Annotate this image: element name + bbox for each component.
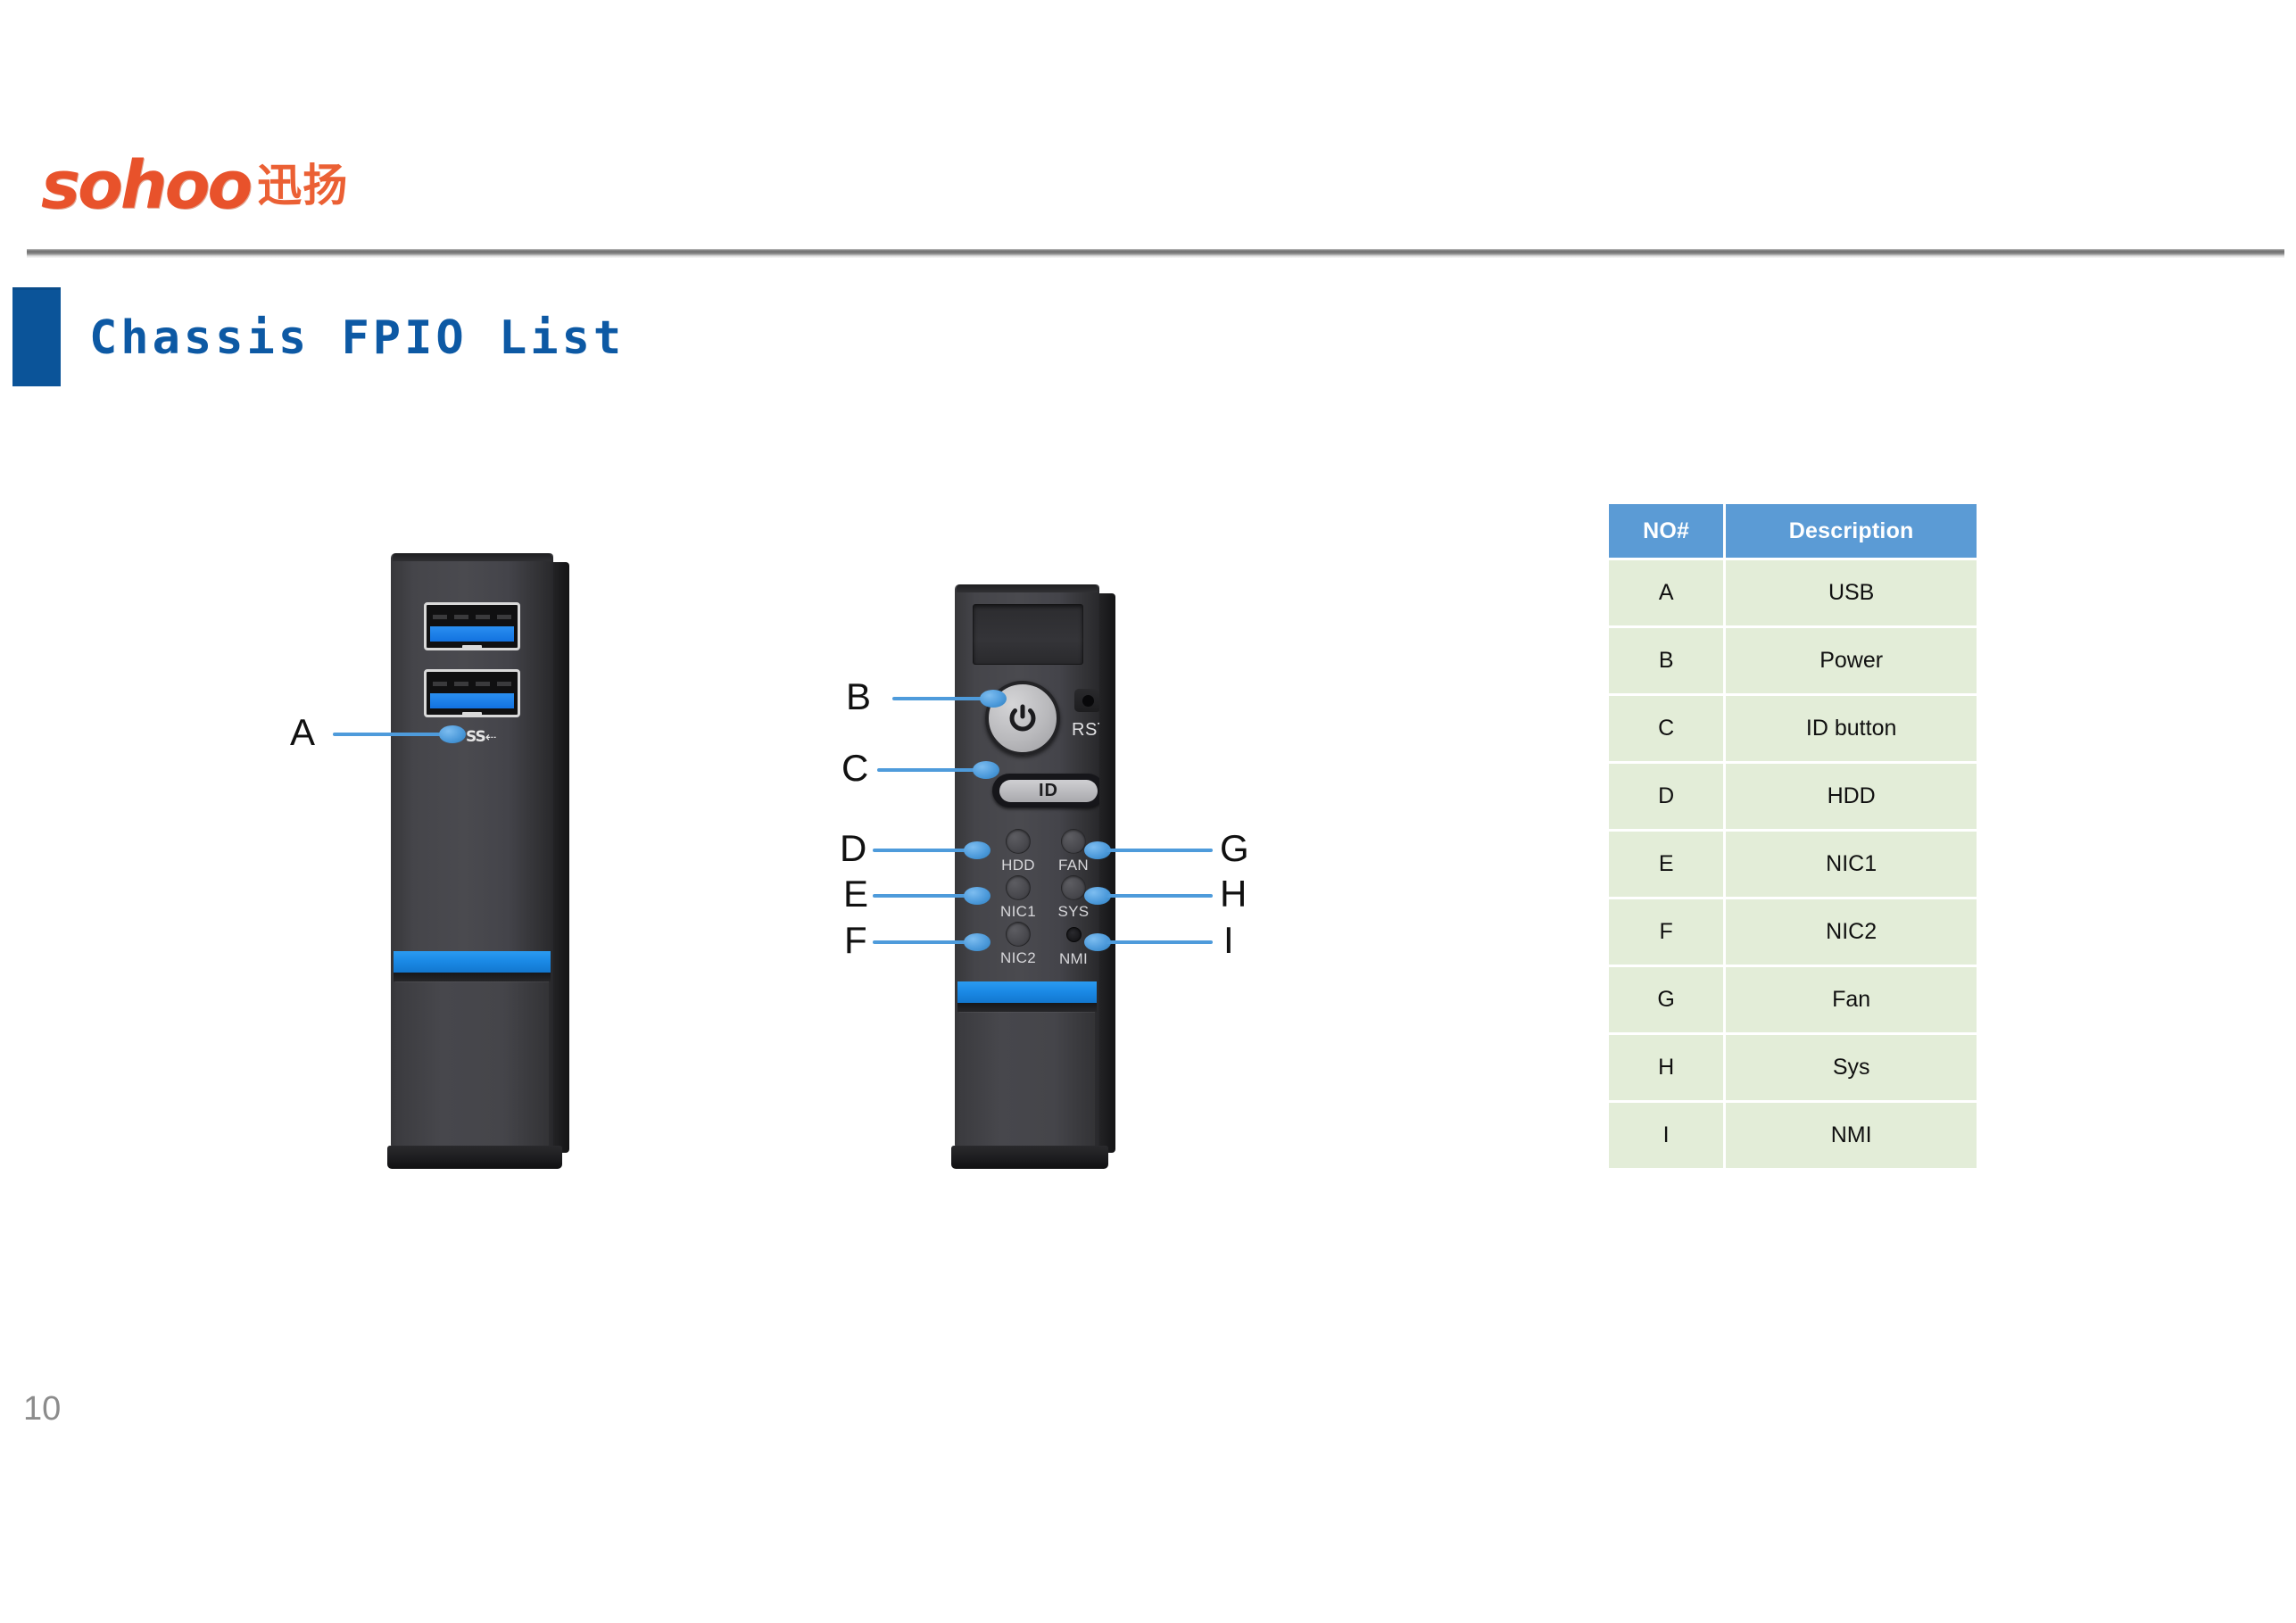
callout-marker-b [980, 690, 1007, 708]
table-row: E NIC1 [1609, 832, 1977, 897]
led-nic1: NIC1 [989, 875, 1048, 921]
callout-leader-e [873, 894, 971, 898]
callout-marker-c [973, 761, 999, 779]
cell-description: NMI [1726, 1103, 1977, 1168]
title-accent-block [12, 287, 61, 386]
callout-marker-a [439, 725, 466, 743]
cell-no: D [1609, 764, 1723, 829]
cell-description: Fan [1726, 967, 1977, 1032]
cell-description: Sys [1726, 1035, 1977, 1100]
chassis-accent-stripe [957, 981, 1097, 1003]
led-indicator-dot [1006, 922, 1031, 947]
chassis-base-foot [387, 1146, 562, 1169]
chassis-lower-bay [395, 981, 549, 1147]
led-hdd: HDD [989, 829, 1048, 874]
callout-letter-h: H [1220, 875, 1247, 913]
callout-leader-i [1106, 940, 1213, 944]
page-number: 10 [23, 1390, 61, 1428]
callout-leader-f [873, 940, 971, 944]
reset-pinhole[interactable] [1074, 689, 1099, 712]
usb-superspeed-icon: SS⇠ [466, 728, 495, 746]
callout-leader-d [873, 849, 971, 852]
table-row: D HDD [1609, 764, 1977, 829]
cell-no: G [1609, 967, 1723, 1032]
table-body: A USB B Power C ID button D HDD E NIC1 F… [1609, 560, 1977, 1168]
usb-tongue [430, 626, 514, 642]
callout-marker-f [964, 933, 991, 951]
chassis-front-panel: SS⇠ [391, 553, 553, 1147]
led-label: NMI [1044, 950, 1099, 968]
reset-hole-inner [1082, 695, 1094, 707]
callout-letter-a: A [290, 714, 315, 751]
led-label: HDD [989, 857, 1048, 874]
usb-pins [433, 682, 511, 686]
led-indicator-dot [1061, 829, 1086, 854]
callout-leader-h [1106, 894, 1213, 898]
chassis-base-foot [951, 1146, 1108, 1169]
callout-letter-i: I [1223, 922, 1234, 959]
cell-no: F [1609, 899, 1723, 965]
chassis-upper-bay-recess [973, 604, 1083, 665]
column-header-no: NO# [1609, 504, 1723, 558]
callout-leader-g [1106, 849, 1213, 852]
reset-label: RST [1072, 720, 1099, 741]
logo-wordmark: sohoo [41, 159, 250, 213]
callout-leader-b [892, 697, 991, 700]
led-nic2: NIC2 [989, 922, 1048, 967]
callout-leader-a [333, 733, 449, 736]
chassis-front-panel: RST ID HDD NIC1 NIC2 FAN SYS NMI [955, 584, 1099, 1147]
cell-description: HDD [1726, 764, 1977, 829]
usb-tongue [430, 693, 514, 708]
callout-letter-d: D [840, 830, 866, 867]
nmi-pinhole[interactable] [1066, 927, 1082, 942]
chassis-stripe-shadow [394, 973, 551, 981]
chassis-fpio-illustration: RST ID HDD NIC1 NIC2 FAN SYS NMI [955, 584, 1115, 1169]
table-header-row: NO# Description [1609, 504, 1977, 558]
chassis-lower-bay [959, 1012, 1095, 1147]
logo-chinese-name: 迅扬 [257, 163, 348, 208]
cell-no: C [1609, 696, 1723, 761]
table-row: I NMI [1609, 1103, 1977, 1168]
cell-description: NIC2 [1726, 899, 1977, 965]
led-indicator-dot [1006, 875, 1031, 900]
table-row: G Fan [1609, 967, 1977, 1032]
column-header-description: Description [1726, 504, 1977, 558]
callout-marker-d [964, 841, 991, 859]
power-icon [1005, 700, 1040, 736]
page-title: Chassis FPIO List [89, 311, 625, 365]
usb-notch [462, 712, 482, 716]
callout-leader-c [877, 768, 980, 772]
cell-no: B [1609, 628, 1723, 693]
cell-no: H [1609, 1035, 1723, 1100]
table-row: A USB [1609, 560, 1977, 625]
usb-notch [462, 645, 482, 650]
cell-description: ID button [1726, 696, 1977, 761]
id-button[interactable]: ID [992, 774, 1099, 807]
usb-port-top [424, 602, 520, 650]
cell-description: USB [1726, 560, 1977, 625]
callout-letter-e: E [843, 875, 868, 913]
callout-letter-g: G [1220, 830, 1249, 867]
chassis-top-lip [957, 584, 1098, 592]
chassis-usb-illustration: SS⇠ [391, 553, 569, 1169]
table-head: NO# Description [1609, 504, 1977, 558]
chassis-top-lip [393, 553, 551, 561]
superspeed-arrow: ⇠ [485, 729, 496, 745]
callout-letter-f: F [844, 922, 867, 959]
cell-description: NIC1 [1726, 832, 1977, 897]
led-indicator-dot [1006, 829, 1031, 854]
chassis-stripe-shadow [957, 1003, 1097, 1012]
cell-no: E [1609, 832, 1723, 897]
callout-letter-b: B [846, 678, 871, 716]
table-row: C ID button [1609, 696, 1977, 761]
cell-description: Power [1726, 628, 1977, 693]
led-label: NIC1 [989, 903, 1048, 921]
led-label: SYS [1044, 903, 1099, 921]
table-row: B Power [1609, 628, 1977, 693]
table-row: H Sys [1609, 1035, 1977, 1100]
usb-port-bottom [424, 669, 520, 717]
fpio-list-table: NO# Description A USB B Power C ID butto… [1606, 501, 1979, 1171]
led-indicator-dot [1061, 875, 1086, 900]
usb-pins [433, 615, 511, 619]
sohoo-logo: sohoo 迅扬 [41, 159, 348, 213]
callout-marker-e [964, 887, 991, 905]
chassis-accent-stripe [394, 951, 551, 973]
callout-letter-c: C [841, 749, 868, 787]
cell-no: A [1609, 560, 1723, 625]
id-button-cap: ID [999, 780, 1098, 802]
led-label: NIC2 [989, 949, 1048, 967]
superspeed-text: SS [466, 728, 485, 746]
led-label: FAN [1044, 857, 1099, 874]
table-row: F NIC2 [1609, 899, 1977, 965]
header-divider [27, 249, 2284, 258]
cell-no: I [1609, 1103, 1723, 1168]
